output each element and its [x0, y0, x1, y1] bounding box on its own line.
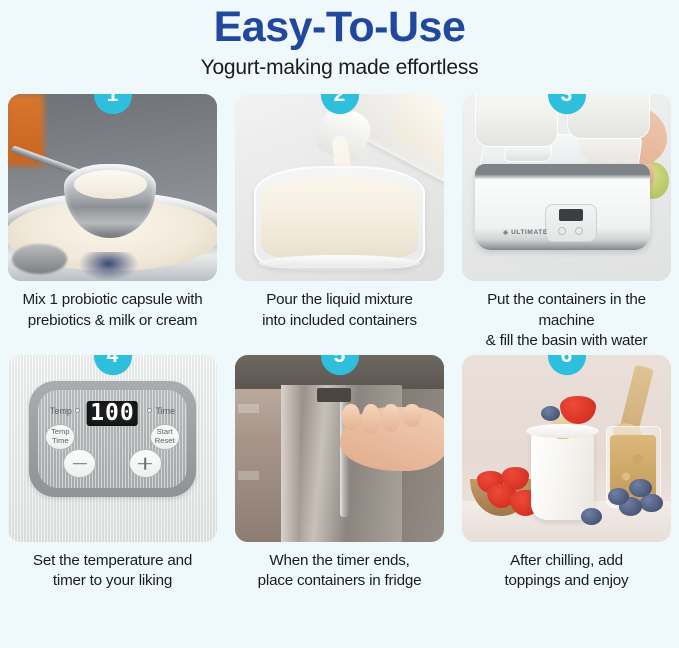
page-title: Easy-To-Use: [0, 4, 679, 50]
infographic-page: Easy-To-Use Yogurt-making made effortles…: [0, 0, 679, 648]
yogurt-maker-body: ✳ ULTIMATE: [475, 164, 651, 250]
brand-label: ✳ ULTIMATE: [503, 229, 548, 237]
glass-container: [254, 166, 425, 269]
temp-label: Temp: [50, 406, 72, 416]
header: Easy-To-Use Yogurt-making made effortles…: [0, 0, 679, 80]
page-subtitle: Yogurt-making made effortless: [0, 56, 679, 80]
fridge-shelf: [238, 471, 259, 480]
container-milk: [261, 177, 418, 258]
door-edge: [281, 385, 300, 542]
machine-button: [558, 227, 566, 236]
step-image-5: 5: [235, 355, 444, 542]
time-label: Time: [155, 406, 175, 416]
step-image-1: 1: [8, 94, 217, 281]
wooden-spoon: [619, 365, 654, 435]
machine-button: [575, 227, 583, 236]
step-caption-4: Set the temperature and timer to your li…: [8, 551, 217, 591]
temp-time-button[interactable]: Temp Time: [45, 424, 75, 450]
increase-button[interactable]: [129, 449, 162, 478]
finger: [403, 404, 421, 427]
hand: [340, 407, 445, 471]
step-cell-4: Temp 100 Time Temp Time Start Reset: [8, 355, 217, 591]
pot-handle: [12, 244, 66, 274]
control-panel-face: Temp 100 Time Temp Time Start Reset: [38, 390, 187, 488]
time-led-icon: [147, 408, 152, 413]
finger: [362, 404, 380, 435]
pot-reflection: [79, 252, 138, 282]
step-caption-6: After chilling, add toppings and enjoy: [462, 551, 671, 591]
step-cell-3: ✳ ULTIMATE 3 Put the containers in the m…: [462, 94, 671, 351]
fridge-shelf: [238, 404, 259, 413]
finger: [382, 404, 400, 432]
plus-icon: [145, 457, 147, 470]
step-image-6: 6: [462, 355, 671, 542]
machine-control-panel: [545, 204, 598, 242]
decrease-button[interactable]: [63, 449, 96, 478]
minus-icon: [73, 463, 87, 465]
time-indicator: Time: [147, 406, 175, 416]
snowflake-icon: ✳: [503, 229, 509, 237]
handle-mount: [317, 388, 351, 402]
brand-name: ULTIMATE: [511, 229, 548, 236]
temp-led-icon: [75, 408, 80, 413]
machine-display: [559, 209, 583, 221]
step-cell-1: 1 Mix 1 probiotic capsule with prebiotic…: [8, 94, 217, 351]
step-caption-2: Pour the liquid mixture into included co…: [235, 290, 444, 330]
finger: [342, 404, 360, 431]
jar-rim: [526, 424, 599, 438]
step-image-3: ✳ ULTIMATE 3: [462, 94, 671, 281]
temp-indicator: Temp: [50, 406, 80, 416]
ladle-milk: [74, 170, 148, 198]
step-caption-5: When the timer ends, place containers in…: [235, 551, 444, 591]
control-panel-bezel: Temp 100 Time Temp Time Start Reset: [29, 381, 196, 497]
led-display: 100: [87, 401, 138, 426]
step-cell-6: 6 After chilling, add toppings and enjoy: [462, 355, 671, 591]
blueberry: [608, 488, 629, 505]
display-value: 100: [90, 402, 135, 425]
steps-grid: 1 Mix 1 probiotic capsule with prebiotic…: [0, 94, 679, 591]
step-image-4: Temp 100 Time Temp Time Start Reset: [8, 355, 217, 542]
step-caption-3: Put the containers in the machine & fill…: [462, 290, 671, 351]
start-reset-button[interactable]: Start Reset: [150, 424, 180, 450]
step-cell-5: 5 When the timer ends, place containers …: [235, 355, 444, 591]
yogurt-container: [475, 94, 559, 146]
yogurt-jar: [531, 430, 594, 520]
step-cell-2: 2 Pour the liquid mixture into included …: [235, 94, 444, 351]
blueberry: [541, 406, 560, 421]
step-caption-1: Mix 1 probiotic capsule with prebiotics …: [8, 290, 217, 330]
step-image-2: 2: [235, 94, 444, 281]
step-badge-6: 6: [548, 355, 586, 375]
